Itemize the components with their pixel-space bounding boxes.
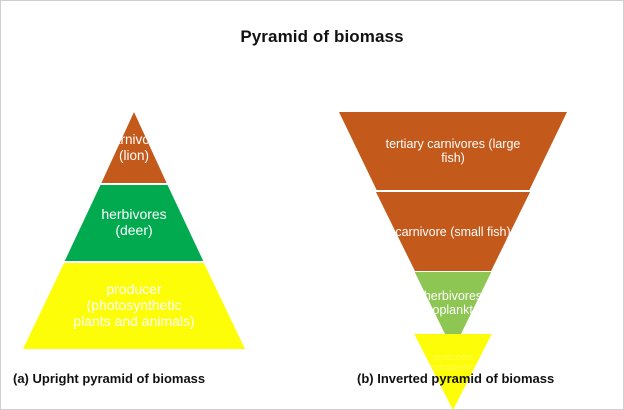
inverted-level-herbivores: herbivores(zooplankton) <box>339 272 567 334</box>
upright-level-carnivore: carnivore(lion) <box>23 112 245 183</box>
inverted-herbivores-line1: herbivores <box>424 289 482 303</box>
inverted-level-herbivores-label: herbivores(zooplankton) <box>415 289 491 317</box>
caption-upright-pyramid: (a) Upright pyramid of biomass <box>13 371 205 386</box>
page-title: Pyramid of biomass <box>1 27 624 47</box>
upright-pyramid-diagram: carnivore(lion) herbivores(deer) produce… <box>23 112 245 349</box>
inverted-producers-line1: producers <box>433 352 473 362</box>
inverted-level-carnivore-label: carnivore (small fish) <box>395 225 510 239</box>
upright-level-carnivore-label: carnivore(lion) <box>106 132 162 162</box>
upright-producer-line3: plants and animals) <box>73 313 194 329</box>
upright-herbivores-line1: herbivores <box>101 206 166 222</box>
inverted-level-carnivore: carnivore (small fish) <box>339 192 567 271</box>
upright-level-producer-label: producer(photosyntheticplants and animal… <box>73 282 194 329</box>
inverted-herbivores-line2: (zooplankton) <box>415 303 491 317</box>
upright-carnivore-line1: carnivore <box>106 132 162 147</box>
upright-producer-line1: producer <box>106 281 161 297</box>
upright-producer-line2: (photosynthetic <box>87 297 182 313</box>
upright-level-herbivores: herbivores(deer) <box>23 185 245 261</box>
upright-level-producer: producer(photosyntheticplants and animal… <box>23 263 245 349</box>
upright-level-herbivores-label: herbivores(deer) <box>101 207 166 238</box>
inverted-level-tertiary-carnivores-label: tertiary carnivores (large fish) <box>377 137 529 165</box>
upright-herbivores-line2: (deer) <box>115 222 152 238</box>
upright-carnivore-line2: (lion) <box>119 148 149 163</box>
inverted-pyramid-diagram: tertiary carnivores (large fish) carnivo… <box>339 112 567 349</box>
caption-inverted-pyramid: (b) Inverted pyramid of biomass <box>357 371 554 386</box>
inverted-level-tertiary-carnivores: tertiary carnivores (large fish) <box>339 112 567 190</box>
inverted-level-producers-label: producers(phytoplankton) <box>422 352 484 372</box>
